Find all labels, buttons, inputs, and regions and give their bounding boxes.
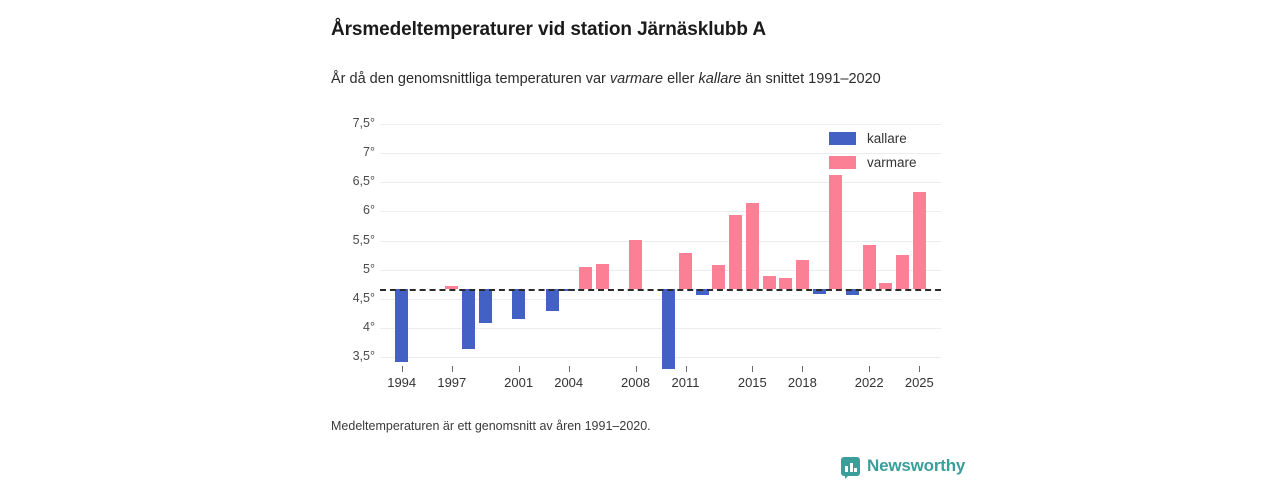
bar-2018[interactable] [796,260,809,289]
x-axis-label: 2001 [504,375,533,390]
y-axis-label: 7° [331,145,375,159]
y-axis-label: 7,5° [331,116,375,130]
page-subtitle: År då den genomsnittliga temperaturen va… [331,68,931,90]
subtitle-emphasis-varmare: varmare [610,71,663,87]
gridline [380,357,941,358]
baseline-average-line [380,289,941,291]
bar-2015[interactable] [746,203,759,289]
x-axis-label: 2004 [554,375,583,390]
x-axis-tick [402,366,403,372]
y-axis-label: 6,5° [331,174,375,188]
subtitle-part-3: än snittet 1991–2020 [741,71,880,87]
x-axis-tick [752,366,753,372]
gridline [380,241,941,242]
x-axis: 1994199720012004200820112015201820222025 [380,366,941,398]
x-axis-label: 2025 [905,375,934,390]
y-axis-label: 5,5° [331,233,375,247]
bar-2014[interactable] [729,215,742,289]
legend-swatch-kallare-icon [829,132,856,145]
bar-2006[interactable] [596,264,609,289]
y-axis-label: 3,5° [331,349,375,363]
newsworthy-logo[interactable]: Newsworthy [841,456,965,476]
bar-1998[interactable] [462,289,475,349]
bar-2017[interactable] [779,278,792,289]
chart-page: Årsmedeltemperaturer vid station Järnäsk… [0,0,1280,480]
subtitle-part-1: År då den genomsnittliga temperaturen va… [331,71,610,87]
gridline [380,211,941,212]
bar-2001[interactable] [512,289,525,319]
x-axis-label: 1994 [387,375,416,390]
legend-item-kallare[interactable]: kallare [829,128,917,148]
x-axis-label: 2011 [672,375,700,390]
y-axis-label: 4° [331,320,375,334]
x-axis-label: 2018 [788,375,817,390]
subtitle-part-2: eller [663,71,698,87]
x-axis-label: 2008 [621,375,650,390]
chart-footnote: Medeltemperaturen är ett genomsnitt av å… [331,419,651,433]
bar-1999[interactable] [479,289,492,323]
page-title: Årsmedeltemperaturer vid station Järnäsk… [331,19,1091,41]
bar-2011[interactable] [679,253,692,289]
bar-2013[interactable] [712,265,725,289]
x-axis-tick [686,366,687,372]
subtitle-emphasis-kallare: kallare [699,71,742,87]
legend-swatch-varmare-icon [829,156,856,169]
x-axis-label: 1997 [437,375,466,390]
bar-2024[interactable] [896,255,909,289]
x-axis-label: 2015 [738,375,767,390]
bar-2008[interactable] [629,240,642,289]
newsworthy-mark-icon [841,457,860,476]
gridline [380,182,941,183]
x-axis-label: 2022 [855,375,884,390]
legend-item-varmare[interactable]: varmare [829,152,917,172]
y-axis-label: 5° [331,262,375,276]
x-axis-tick [636,366,637,372]
legend-label-varmare: varmare [867,155,917,170]
gridline [380,124,941,125]
x-axis-tick [802,366,803,372]
chart-legend: kallare varmare [829,128,917,176]
bar-2010[interactable] [662,289,675,369]
bar-2022[interactable] [863,245,876,289]
bar-2016[interactable] [763,276,776,289]
y-axis-label: 4,5° [331,291,375,305]
bar-1994[interactable] [395,289,408,362]
legend-label-kallare: kallare [867,131,907,146]
y-axis-label: 6° [331,203,375,217]
bar-2003[interactable] [546,289,559,311]
bar-2020[interactable] [829,175,842,289]
x-axis-tick [919,366,920,372]
gridline [380,270,941,271]
x-axis-tick [569,366,570,372]
x-axis-tick [519,366,520,372]
x-axis-tick [869,366,870,372]
x-axis-tick [452,366,453,372]
bar-2025[interactable] [913,192,926,289]
newsworthy-wordmark: Newsworthy [867,456,965,476]
bar-2005[interactable] [579,267,592,289]
